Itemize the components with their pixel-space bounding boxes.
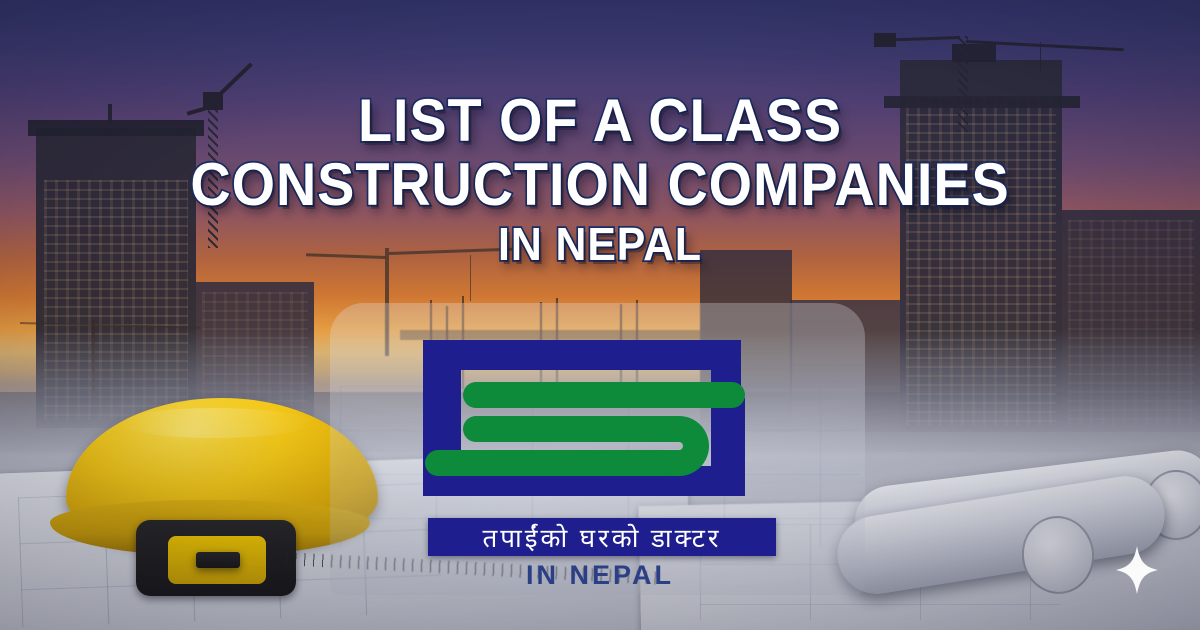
brand-logo [423,340,783,595]
logo-s-bottom-bar [425,450,673,476]
headline-line-1: LIST OF A CLASS [42,92,1158,151]
page-title: LIST OF A CLASS CONSTRUCTION COMPANIES I… [0,92,1200,267]
logo-bracket-top-return [711,340,741,386]
headline-line-3: IN NEPAL [42,222,1158,267]
hard-hat-highlight [120,408,310,438]
logo-tagline-plaque: तपाईंको घरको डाक्टर [428,518,776,556]
four-point-sparkle-icon [1116,546,1158,594]
banner-canvas: LIST OF A CLASS CONSTRUCTION COMPANIES I… [0,0,1200,630]
crane-right-cable [1040,42,1041,72]
crane-right-counterweight [874,33,896,47]
logo-sublabel-text: IN NEPAL [526,560,674,590]
logo-tagline-text: तपाईंको घरको डाक्टर [482,519,721,555]
logo-s-top-bar [463,382,745,408]
logo-i-stem [711,398,745,496]
logo-bracket-top [423,340,741,370]
logo-sublabel: IN NEPAL [0,560,1200,591]
headline-line-2: CONSTRUCTION COMPANIES [42,156,1158,215]
